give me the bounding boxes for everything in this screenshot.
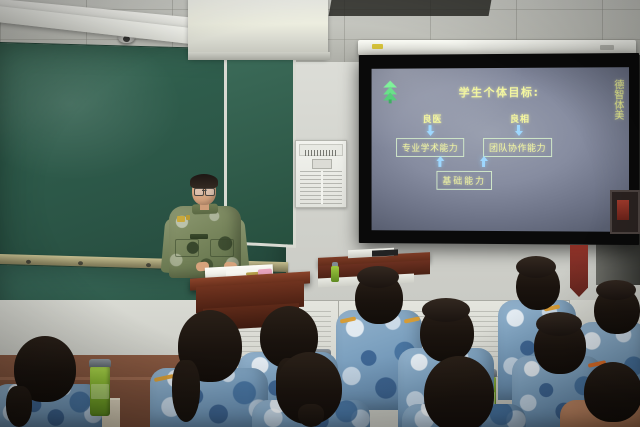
arrow-down-left-icon bbox=[427, 125, 434, 136]
wall-picture-frame bbox=[610, 190, 640, 234]
instructor-pocket-right bbox=[210, 239, 234, 257]
green-water-bottle-desk bbox=[331, 266, 339, 282]
arrow-down-right-icon bbox=[515, 125, 522, 136]
housing-end-cap bbox=[600, 45, 614, 50]
arrow-up-right-icon bbox=[480, 156, 487, 167]
slide-title: 学生个体目标: bbox=[372, 83, 629, 100]
slide-box-left: 专业学术能力 bbox=[396, 138, 464, 157]
eyeglasses-icon bbox=[194, 188, 215, 194]
notice-header bbox=[299, 144, 343, 156]
slide-box-right: 团队协作能力 bbox=[483, 138, 552, 157]
instructor-rank-badge bbox=[177, 216, 185, 222]
bottle-label bbox=[91, 384, 109, 399]
classroom-photo: 学生个体目标: 德智体美 良医 良相 专业学术能力 团队协作能力 基础能力 bbox=[0, 0, 640, 427]
slide-label-right: 良相 bbox=[510, 112, 530, 125]
slide-box-base: 基础能力 bbox=[436, 171, 492, 190]
notice-header-text bbox=[305, 150, 337, 156]
bottle-cap bbox=[89, 359, 111, 367]
projector-screen: 学生个体目标: 德智体美 良医 良相 专业学术能力 团队协作能力 基础能力 bbox=[359, 53, 639, 245]
light-fixture-edge bbox=[188, 52, 330, 60]
fluorescent-light-fixture-3 bbox=[188, 0, 328, 58]
slide-surface: 学生个体目标: 德智体美 良医 良相 专业学术能力 团队协作能力 基础能力 bbox=[372, 67, 629, 232]
instructor-hair bbox=[190, 174, 218, 189]
slide-vertical-motto: 德智体美 bbox=[612, 79, 623, 119]
wall-notice-board bbox=[295, 140, 347, 208]
instructor-pocket-left bbox=[175, 239, 199, 257]
red-wall-banner bbox=[570, 245, 588, 297]
arrow-up-left-icon bbox=[436, 156, 443, 167]
slide-label-left: 良医 bbox=[423, 112, 443, 125]
ceiling-vent bbox=[329, 0, 492, 16]
housing-warning-label bbox=[372, 44, 383, 49]
instructor-rank-badge-2 bbox=[186, 215, 190, 220]
notice-column-divider bbox=[321, 171, 323, 204]
notice-subtitle-chip bbox=[312, 159, 332, 169]
green-water-bottle-front bbox=[90, 366, 110, 416]
